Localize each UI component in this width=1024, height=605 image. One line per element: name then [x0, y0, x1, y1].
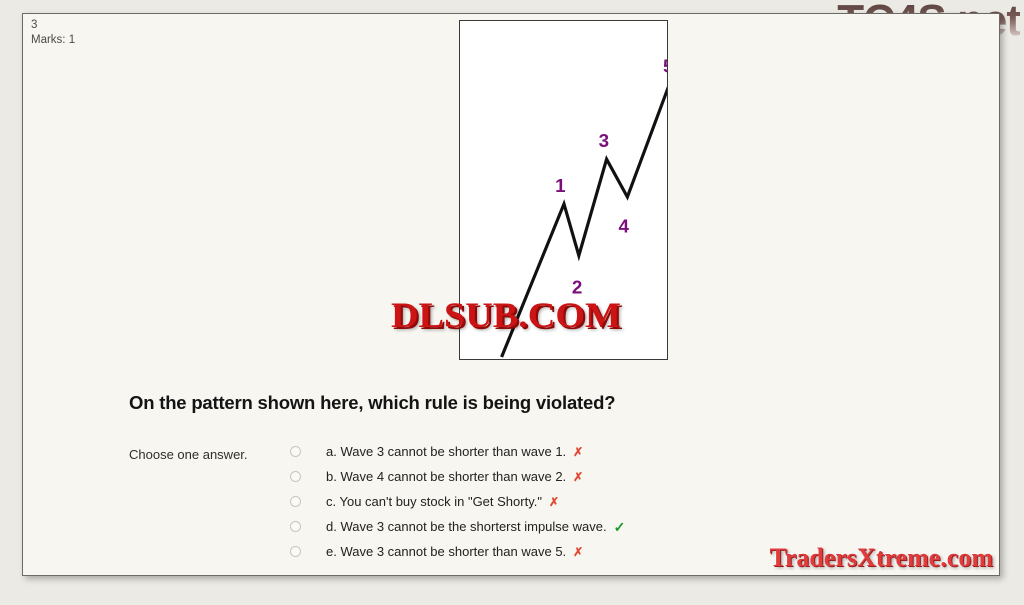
question-marks: Marks: 1: [31, 33, 75, 48]
answer-radio-4[interactable]: [290, 546, 301, 557]
answer-option-0[interactable]: a. Wave 3 cannot be shorter than wave 1.…: [290, 439, 625, 464]
answer-radio-3[interactable]: [290, 521, 301, 532]
answer-option-list: a. Wave 3 cannot be shorter than wave 1.…: [290, 439, 625, 564]
answer-option-2[interactable]: c. You can't buy stock in "Get Shorty."✗: [290, 489, 625, 514]
answer-label-0: a. Wave 3 cannot be shorter than wave 1.: [326, 444, 566, 459]
watermark-dlsub-text: DLSUB.COM: [391, 295, 621, 335]
answer-label-1: b. Wave 4 cannot be shorter than wave 2.: [326, 469, 566, 484]
wave-label-3: 3: [599, 130, 609, 151]
answer-option-1[interactable]: b. Wave 4 cannot be shorter than wave 2.…: [290, 464, 625, 489]
answer-label-3: d. Wave 3 cannot be the shorterst impuls…: [326, 519, 607, 534]
question-number: 3: [31, 18, 75, 33]
correct-check-icon: ✓: [614, 520, 626, 534]
wave-label-5: 5: [663, 56, 667, 77]
incorrect-cross-icon: ✗: [573, 546, 583, 558]
wave-label-4: 4: [618, 216, 629, 237]
watermark-dlsub: DLSUB.COM: [391, 294, 621, 336]
incorrect-cross-icon: ✗: [573, 446, 583, 458]
quiz-question-panel: 3 Marks: 1 12345 DLSUB.COM On the patter…: [22, 13, 1000, 576]
incorrect-cross-icon: ✗: [573, 471, 583, 483]
watermark-tradersxtreme: TradersXtreme.com: [769, 543, 993, 573]
incorrect-cross-icon: ✗: [549, 496, 559, 508]
answer-option-4[interactable]: e. Wave 3 cannot be shorter than wave 5.…: [290, 539, 625, 564]
question-meta: 3 Marks: 1: [31, 18, 75, 48]
answer-label-2: c. You can't buy stock in "Get Shorty.": [326, 494, 542, 509]
page-title: On the pattern shown here, which rule is…: [129, 392, 615, 414]
answer-radio-0[interactable]: [290, 446, 301, 457]
answer-radio-1[interactable]: [290, 471, 301, 482]
answer-option-3[interactable]: d. Wave 3 cannot be the shorterst impuls…: [290, 514, 625, 539]
wave-label-1: 1: [555, 175, 565, 196]
wave-point-labels: 12345: [555, 56, 667, 298]
answer-label-4: e. Wave 3 cannot be shorter than wave 5.: [326, 544, 566, 559]
choose-one-answer-label: Choose one answer.: [129, 447, 248, 462]
answer-radio-2[interactable]: [290, 496, 301, 507]
